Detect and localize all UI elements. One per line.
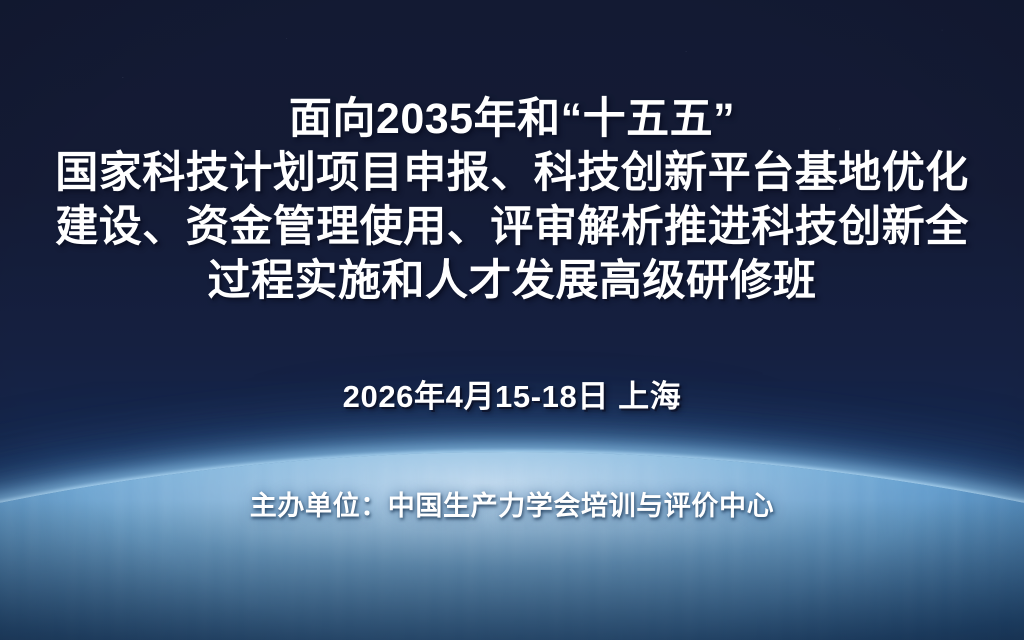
poster-content: 面向2035年和“十五五” 国家科技计划项目申报、科技创新平台基地优化 建设、资…	[0, 0, 1024, 640]
title-line-4: 过程实施和人才发展高级研修班	[0, 254, 1024, 308]
title-line-3: 建设、资金管理使用、评审解析推进科技创新全	[0, 200, 1024, 254]
title-line-1: 面向2035年和“十五五”	[0, 92, 1024, 146]
title-line-2: 国家科技计划项目申报、科技创新平台基地优化	[0, 146, 1024, 200]
conference-poster: 面向2035年和“十五五” 国家科技计划项目申报、科技创新平台基地优化 建设、资…	[0, 0, 1024, 640]
event-host: 主办单位：中国生产力学会培训与评价中心	[250, 484, 774, 523]
poster-title: 面向2035年和“十五五” 国家科技计划项目申报、科技创新平台基地优化 建设、资…	[0, 92, 1024, 308]
event-date-location: 2026年4月15-18日 上海	[343, 371, 682, 416]
